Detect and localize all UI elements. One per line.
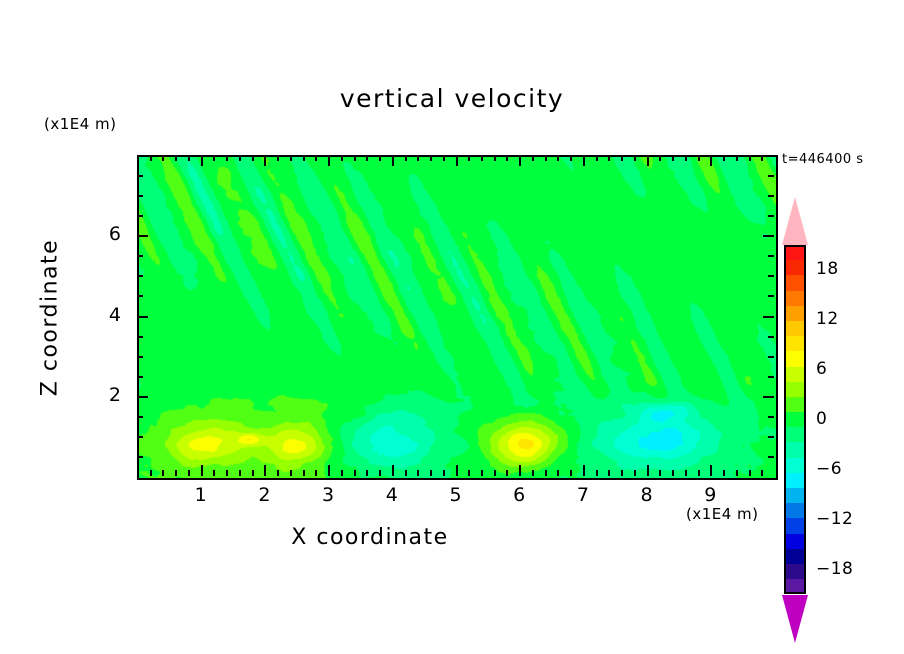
tick-mark (137, 436, 143, 438)
colorbar-band (784, 382, 806, 397)
tick-mark (366, 470, 368, 476)
x-axis-title: X coordinate (0, 525, 740, 550)
colorbar-cap-top (782, 197, 808, 245)
tick-mark (468, 155, 470, 161)
tick-mark (768, 275, 774, 277)
colorbar-tick-label: 12 (816, 309, 839, 329)
tick-mark (162, 155, 164, 161)
tick-mark (685, 470, 687, 476)
y-tick-label: 4 (95, 304, 121, 326)
tick-mark (768, 456, 774, 458)
tick-mark (162, 470, 164, 476)
tick-mark (188, 155, 190, 161)
colorbar-band (784, 473, 806, 488)
tick-mark (659, 155, 661, 161)
tick-mark (392, 465, 394, 476)
colorbar-band (784, 503, 806, 518)
x-tick-label: 1 (181, 484, 221, 506)
tick-mark (506, 470, 508, 476)
tick-mark (137, 416, 143, 418)
tick-mark (354, 155, 356, 161)
colorbar-band (784, 442, 806, 457)
tick-mark (468, 470, 470, 476)
tick-mark (583, 465, 585, 476)
tick-mark (137, 175, 143, 177)
tick-mark (137, 275, 143, 277)
tick-mark (328, 155, 330, 166)
tick-mark (621, 470, 623, 476)
tick-mark (290, 470, 292, 476)
colorbar-cap-bottom (782, 595, 808, 643)
tick-mark (315, 470, 317, 476)
tick-mark (290, 155, 292, 161)
tick-mark (417, 155, 419, 161)
x-axis-unit-label: (x1E4 m) (686, 505, 759, 523)
tick-mark (723, 155, 725, 161)
z-axis-unit-label: (x1E4 m) (44, 115, 117, 133)
tick-mark (277, 155, 279, 161)
tick-mark (545, 155, 547, 161)
tick-mark (430, 470, 432, 476)
tick-mark (761, 470, 763, 476)
colorbar-band (784, 549, 806, 564)
tick-mark (494, 470, 496, 476)
tick-mark (532, 155, 534, 161)
tick-mark (596, 155, 598, 161)
colorbar-band (784, 534, 806, 549)
tick-mark (723, 470, 725, 476)
colorbar-tick-label: −6 (816, 459, 842, 479)
tick-mark (201, 155, 203, 166)
tick-mark (698, 470, 700, 476)
tick-mark (736, 155, 738, 161)
colorbar-tick-label: −18 (816, 559, 853, 579)
tick-mark (417, 470, 419, 476)
tick-mark (137, 235, 148, 237)
tick-mark (137, 456, 143, 458)
tick-mark (213, 155, 215, 161)
tick-mark (137, 376, 143, 378)
tick-mark (392, 155, 394, 166)
colorbar-band (784, 397, 806, 412)
y-tick-label: 2 (95, 384, 121, 406)
tick-mark (768, 175, 774, 177)
tick-mark (608, 470, 610, 476)
tick-mark (768, 295, 774, 297)
x-tick-label: 7 (563, 484, 603, 506)
tick-mark (443, 155, 445, 161)
colorbar-band (784, 321, 806, 336)
tick-mark (137, 396, 148, 398)
chart-title: vertical velocity (0, 84, 904, 113)
tick-mark (768, 255, 774, 257)
tick-mark (137, 215, 143, 217)
tick-mark (710, 155, 712, 166)
figure-canvas: vertical velocity (x1E4 m) (x1E4 m) t=44… (0, 0, 904, 654)
tick-mark (749, 155, 751, 161)
colorbar-band (784, 336, 806, 351)
tick-mark (328, 465, 330, 476)
tick-mark (768, 195, 774, 197)
tick-mark (239, 155, 241, 161)
x-tick-label: 2 (244, 484, 284, 506)
tick-mark (557, 470, 559, 476)
tick-mark (494, 155, 496, 161)
tick-mark (545, 470, 547, 476)
tick-mark (137, 295, 143, 297)
tick-mark (379, 470, 381, 476)
tick-mark (303, 155, 305, 161)
tick-mark (456, 155, 458, 166)
tick-mark (430, 155, 432, 161)
colorbar-band (784, 488, 806, 503)
tick-mark (685, 155, 687, 161)
colorbar (784, 245, 806, 594)
tick-mark (647, 465, 649, 476)
x-tick-label: 6 (499, 484, 539, 506)
colorbar-band (784, 518, 806, 533)
colorbar-band (784, 412, 806, 427)
colorbar-band (784, 427, 806, 442)
vertical-velocity-field (139, 157, 776, 478)
tick-mark (405, 470, 407, 476)
tick-mark (768, 376, 774, 378)
tick-mark (150, 470, 152, 476)
tick-mark (277, 470, 279, 476)
tick-mark (481, 155, 483, 161)
x-tick-label: 9 (690, 484, 730, 506)
tick-mark (341, 155, 343, 161)
tick-mark (341, 470, 343, 476)
x-tick-label: 3 (308, 484, 348, 506)
tick-mark (749, 470, 751, 476)
tick-mark (647, 155, 649, 166)
tick-mark (137, 316, 148, 318)
tick-mark (150, 155, 152, 161)
colorbar-band (784, 260, 806, 275)
tick-mark (137, 356, 143, 358)
colorbar-tick-label: 6 (816, 359, 827, 379)
tick-mark (175, 155, 177, 161)
tick-mark (634, 470, 636, 476)
tick-mark (456, 465, 458, 476)
tick-mark (659, 470, 661, 476)
tick-mark (763, 316, 774, 318)
tick-mark (768, 336, 774, 338)
tick-mark (137, 336, 143, 338)
tick-mark (188, 470, 190, 476)
tick-mark (252, 470, 254, 476)
tick-mark (226, 155, 228, 161)
y-tick-label: 6 (95, 223, 121, 245)
tick-mark (264, 155, 266, 166)
tick-mark (698, 155, 700, 161)
tick-mark (761, 155, 763, 161)
tick-mark (710, 465, 712, 476)
tick-mark (621, 155, 623, 161)
x-tick-label: 4 (372, 484, 412, 506)
x-tick-label: 8 (627, 484, 667, 506)
tick-mark (303, 470, 305, 476)
tick-mark (768, 436, 774, 438)
tick-mark (570, 470, 572, 476)
tick-mark (506, 155, 508, 161)
timestamp-annotation: t=446400 s (782, 152, 864, 167)
tick-mark (768, 356, 774, 358)
colorbar-band (784, 458, 806, 473)
tick-mark (481, 470, 483, 476)
tick-mark (443, 470, 445, 476)
tick-mark (315, 155, 317, 161)
tick-mark (252, 155, 254, 161)
tick-mark (763, 396, 774, 398)
tick-mark (201, 465, 203, 476)
colorbar-band (784, 275, 806, 290)
colorbar-band (784, 564, 806, 579)
tick-mark (763, 235, 774, 237)
tick-mark (137, 255, 143, 257)
tick-mark (239, 470, 241, 476)
tick-mark (596, 470, 598, 476)
tick-mark (175, 470, 177, 476)
tick-mark (672, 470, 674, 476)
tick-mark (366, 155, 368, 161)
x-tick-label: 5 (436, 484, 476, 506)
tick-mark (570, 155, 572, 161)
tick-mark (405, 155, 407, 161)
colorbar-band (784, 351, 806, 366)
tick-mark (768, 416, 774, 418)
colorbar-band (784, 579, 806, 594)
tick-mark (137, 195, 143, 197)
tick-mark (634, 155, 636, 161)
tick-mark (379, 155, 381, 161)
tick-mark (736, 470, 738, 476)
colorbar-band (784, 245, 806, 260)
tick-mark (608, 155, 610, 161)
tick-mark (519, 155, 521, 166)
colorbar-band (784, 291, 806, 306)
tick-mark (532, 470, 534, 476)
tick-mark (213, 470, 215, 476)
tick-mark (354, 470, 356, 476)
tick-mark (557, 155, 559, 161)
tick-mark (672, 155, 674, 161)
colorbar-tick-label: −12 (816, 509, 853, 529)
tick-mark (519, 465, 521, 476)
tick-mark (768, 215, 774, 217)
contour-plot-area (137, 155, 778, 480)
tick-mark (583, 155, 585, 166)
tick-mark (264, 465, 266, 476)
colorbar-tick-label: 18 (816, 259, 839, 279)
colorbar-tick-label: 0 (816, 409, 827, 429)
y-axis-title: Z coordinate (38, 208, 63, 428)
colorbar-band (784, 367, 806, 382)
colorbar-band (784, 306, 806, 321)
tick-mark (226, 470, 228, 476)
